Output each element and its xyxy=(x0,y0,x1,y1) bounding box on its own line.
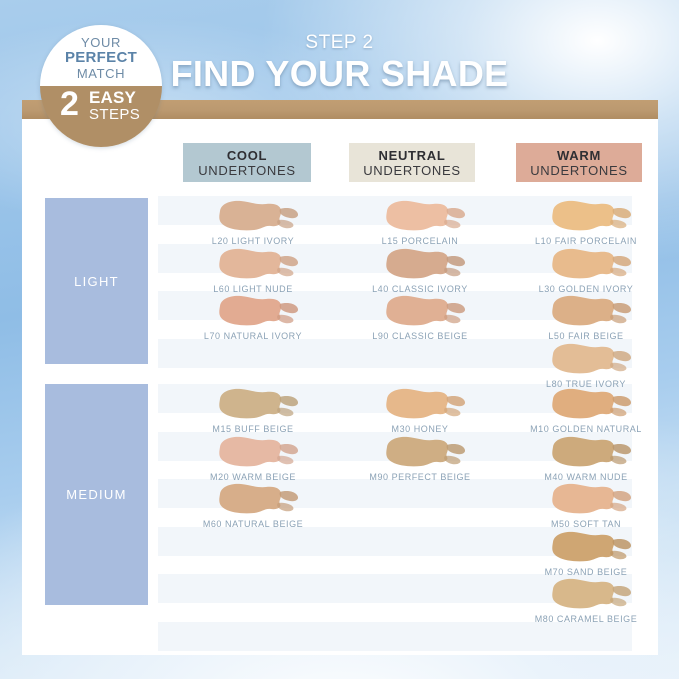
column-header-neutral: NEUTRAL UNDERTONES xyxy=(349,143,475,182)
shade-swatch-icon xyxy=(547,386,639,422)
shade-swatch-icon xyxy=(381,293,473,329)
shade-swatch-icon xyxy=(547,341,639,377)
column-subtitle-warm: UNDERTONES xyxy=(530,163,628,178)
shade-swatch-icon xyxy=(214,481,306,517)
shade-grid: L20 LIGHT IVORY L60 LIGHT NUDE L70 NATUR… xyxy=(158,196,632,608)
shade-name-label: L70 NATURAL IVORY xyxy=(178,331,328,341)
shade-swatch-icon xyxy=(547,576,639,612)
shade-name-label: L50 FAIR BEIGE xyxy=(511,331,661,341)
badge-line-match: MATCH xyxy=(40,66,162,81)
shade-cell[interactable]: L70 NATURAL IVORY xyxy=(178,293,328,351)
section-label-light: LIGHT xyxy=(45,198,148,364)
shade-name-label: L10 FAIR PORCELAIN xyxy=(511,236,661,246)
column-header-cool: COOL UNDERTONES xyxy=(183,143,311,182)
column-header-warm: WARM UNDERTONES xyxy=(516,143,642,182)
shade-cell[interactable]: M90 PERFECT BEIGE xyxy=(345,434,495,492)
shade-name-label: M60 NATURAL BEIGE xyxy=(178,519,328,529)
shade-name-label: M10 GOLDEN NATURAL xyxy=(511,424,661,434)
column-subtitle-cool: UNDERTONES xyxy=(198,163,296,178)
shade-swatch-icon xyxy=(214,293,306,329)
shade-name-label: L15 PORCELAIN xyxy=(345,236,495,246)
perfect-match-badge: YOUR PERFECT MATCH 2 EASY STEPS xyxy=(40,25,162,147)
column-title-warm: WARM xyxy=(557,148,601,163)
section-label-medium: MEDIUM xyxy=(45,384,148,605)
shade-cell[interactable]: M80 CARAMEL BEIGE xyxy=(511,576,661,634)
badge-line-easy: EASY xyxy=(89,89,136,106)
shade-swatch-icon xyxy=(547,481,639,517)
shade-swatch-icon xyxy=(547,434,639,470)
shade-swatch-icon xyxy=(214,434,306,470)
column-title-neutral: NEUTRAL xyxy=(378,148,445,163)
column-title-cool: COOL xyxy=(227,148,267,163)
shade-swatch-icon xyxy=(381,198,473,234)
badge-line-perfect: PERFECT xyxy=(40,49,162,66)
shade-swatch-icon xyxy=(381,434,473,470)
shade-swatch-icon xyxy=(547,198,639,234)
shade-name-label: L20 LIGHT IVORY xyxy=(178,236,328,246)
shade-swatch-icon xyxy=(547,246,639,282)
shade-name-label: M15 BUFF BEIGE xyxy=(178,424,328,434)
shade-name-label: M50 SOFT TAN xyxy=(511,519,661,529)
shade-cell[interactable]: M60 NATURAL BEIGE xyxy=(178,481,328,539)
shade-swatch-icon xyxy=(381,386,473,422)
column-subtitle-neutral: UNDERTONES xyxy=(363,163,461,178)
shade-cell[interactable]: L90 CLASSIC BEIGE xyxy=(345,293,495,351)
badge-line-your: YOUR xyxy=(40,35,162,50)
shade-name-label: L90 CLASSIC BEIGE xyxy=(345,331,495,341)
shade-name-label: M90 PERFECT BEIGE xyxy=(345,472,495,482)
shade-swatch-icon xyxy=(547,529,639,565)
badge-step-number: 2 xyxy=(60,87,79,121)
shade-name-label: M30 HONEY xyxy=(345,424,495,434)
shade-swatch-icon xyxy=(381,246,473,282)
shade-swatch-icon xyxy=(214,386,306,422)
badge-line-steps: STEPS xyxy=(89,107,140,122)
shade-swatch-icon xyxy=(547,293,639,329)
shade-swatch-icon xyxy=(214,246,306,282)
shade-swatch-icon xyxy=(214,198,306,234)
shade-name-label: M80 CARAMEL BEIGE xyxy=(511,614,661,624)
